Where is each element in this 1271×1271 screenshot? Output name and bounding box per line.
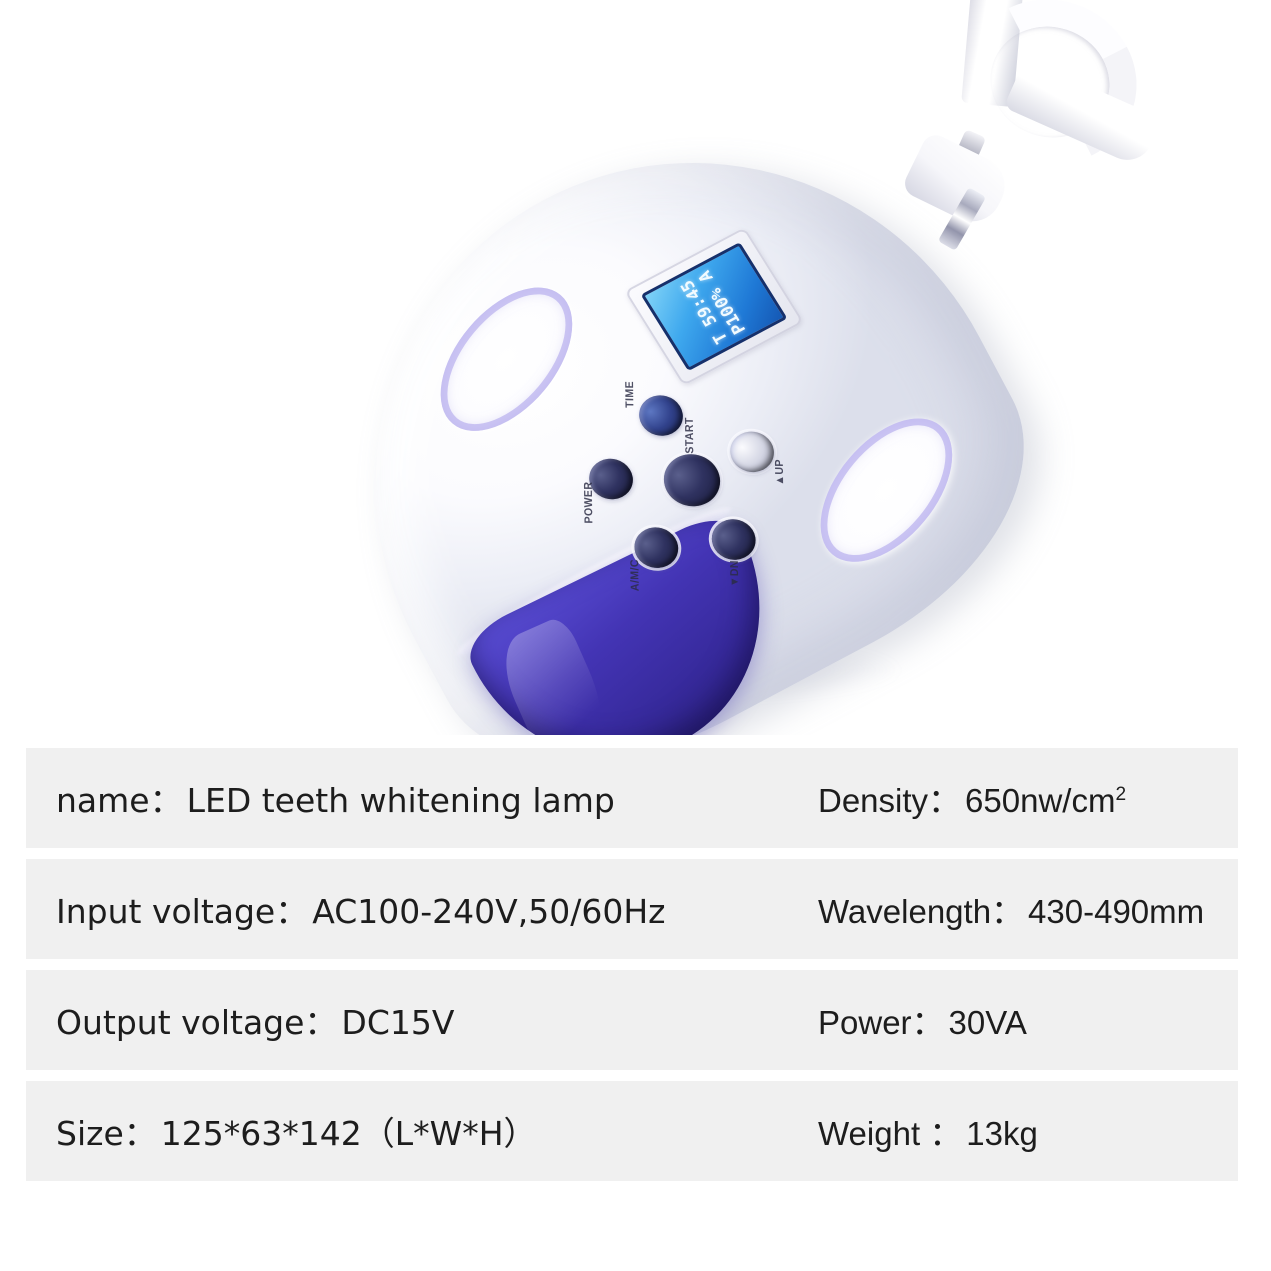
spec-cell-name: name： LED teeth whitening lamp [26, 774, 796, 822]
spec-cell-output-voltage: Output voltage： DC15V [26, 996, 796, 1044]
table-row: Size： 125*63*142（L*W*H） Weight ： 13kg [26, 1081, 1238, 1181]
spec-value: DC15V [341, 1003, 454, 1042]
table-row: Output voltage： DC15V Power： 30VA [26, 970, 1238, 1070]
time-button[interactable] [631, 388, 691, 443]
spec-cell-power: Power： 30VA [796, 996, 1238, 1044]
table-row: Input voltage： AC100-240V,50/60Hz Wavele… [26, 859, 1238, 959]
time-button-label: TIME [624, 381, 637, 408]
spec-key: name： [56, 774, 183, 822]
spec-key: Density： [818, 774, 961, 822]
product-photo: T 59:45 P100% A POWER TIME START ▲UP A/M… [0, 0, 1271, 735]
spec-value: LED teeth whitening lamp [187, 781, 615, 820]
table-row: name： LED teeth whitening lamp Density： … [26, 748, 1238, 848]
spec-value: 13kg [966, 1115, 1038, 1153]
spec-cell-wavelength: Wavelength： 430-490mm [796, 885, 1238, 933]
spec-value: AC100-240V,50/60Hz [312, 892, 665, 931]
up-button-label: ▲UP [773, 459, 786, 486]
spec-table: name： LED teeth whitening lamp Density： … [26, 748, 1238, 1192]
superscript-unit: 2 [1115, 784, 1126, 805]
spec-cell-input-voltage: Input voltage： AC100-240V,50/60Hz [26, 885, 796, 933]
spec-cell-size: Size： 125*63*142（L*W*H） [26, 1107, 796, 1155]
down-button[interactable] [704, 512, 764, 567]
spec-key: Size： [56, 1107, 157, 1155]
auto-mode-button-label: A/M/C [629, 559, 642, 591]
start-button[interactable] [654, 445, 731, 515]
lcd-readout: T 59:45 P100% A [678, 267, 751, 346]
spec-value-text: 650nw/cm [965, 782, 1115, 819]
spec-value: 125*63*142（L*W*H） [161, 1107, 537, 1155]
down-button-label: ▼DN [729, 560, 742, 587]
spec-value: 30VA [949, 1004, 1027, 1042]
spec-key: Weight ： [818, 1107, 962, 1155]
spec-key: Wavelength： [818, 885, 1024, 933]
spec-key: Power： [818, 996, 945, 1044]
power-button-label: POWER [582, 481, 595, 523]
spec-cell-density: Density： 650nw/cm2 [796, 774, 1238, 822]
spec-value: 650nw/cm2 [965, 782, 1126, 820]
spec-key: Output voltage： [56, 996, 337, 1044]
spec-value: 430-490mm [1028, 893, 1204, 931]
spec-key: Input voltage： [56, 885, 308, 933]
spec-cell-weight: Weight ： 13kg [796, 1107, 1238, 1155]
start-button-label: START [683, 417, 696, 454]
